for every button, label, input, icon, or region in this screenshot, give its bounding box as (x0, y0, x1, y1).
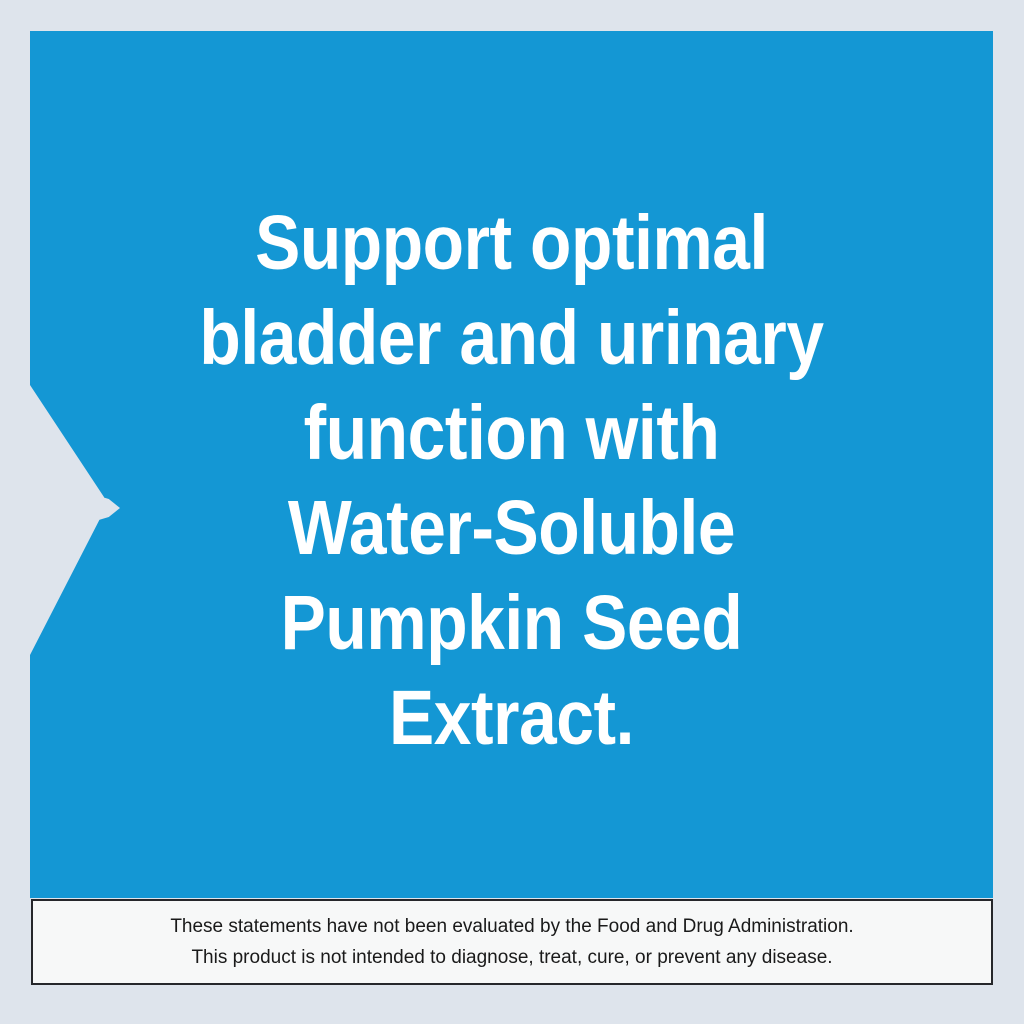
disclaimer-line-1: These statements have not been evaluated… (170, 911, 853, 942)
headline-line-4: Water-Soluble (88, 481, 935, 576)
headline-line-5: Pumpkin Seed (88, 576, 935, 671)
headline-line-1: Support optimal (88, 196, 935, 291)
headline-line-2: bladder and urinary (88, 291, 935, 386)
fda-disclaimer-box: These statements have not been evaluated… (31, 899, 993, 985)
headline-line-3: function with (88, 386, 935, 481)
disclaimer-line-2: This product is not intended to diagnose… (191, 942, 832, 973)
promo-card: Support optimal bladder and urinary func… (0, 0, 1024, 1024)
headline-line-6: Extract. (88, 671, 935, 766)
headline: Support optimal bladder and urinary func… (30, 196, 993, 766)
